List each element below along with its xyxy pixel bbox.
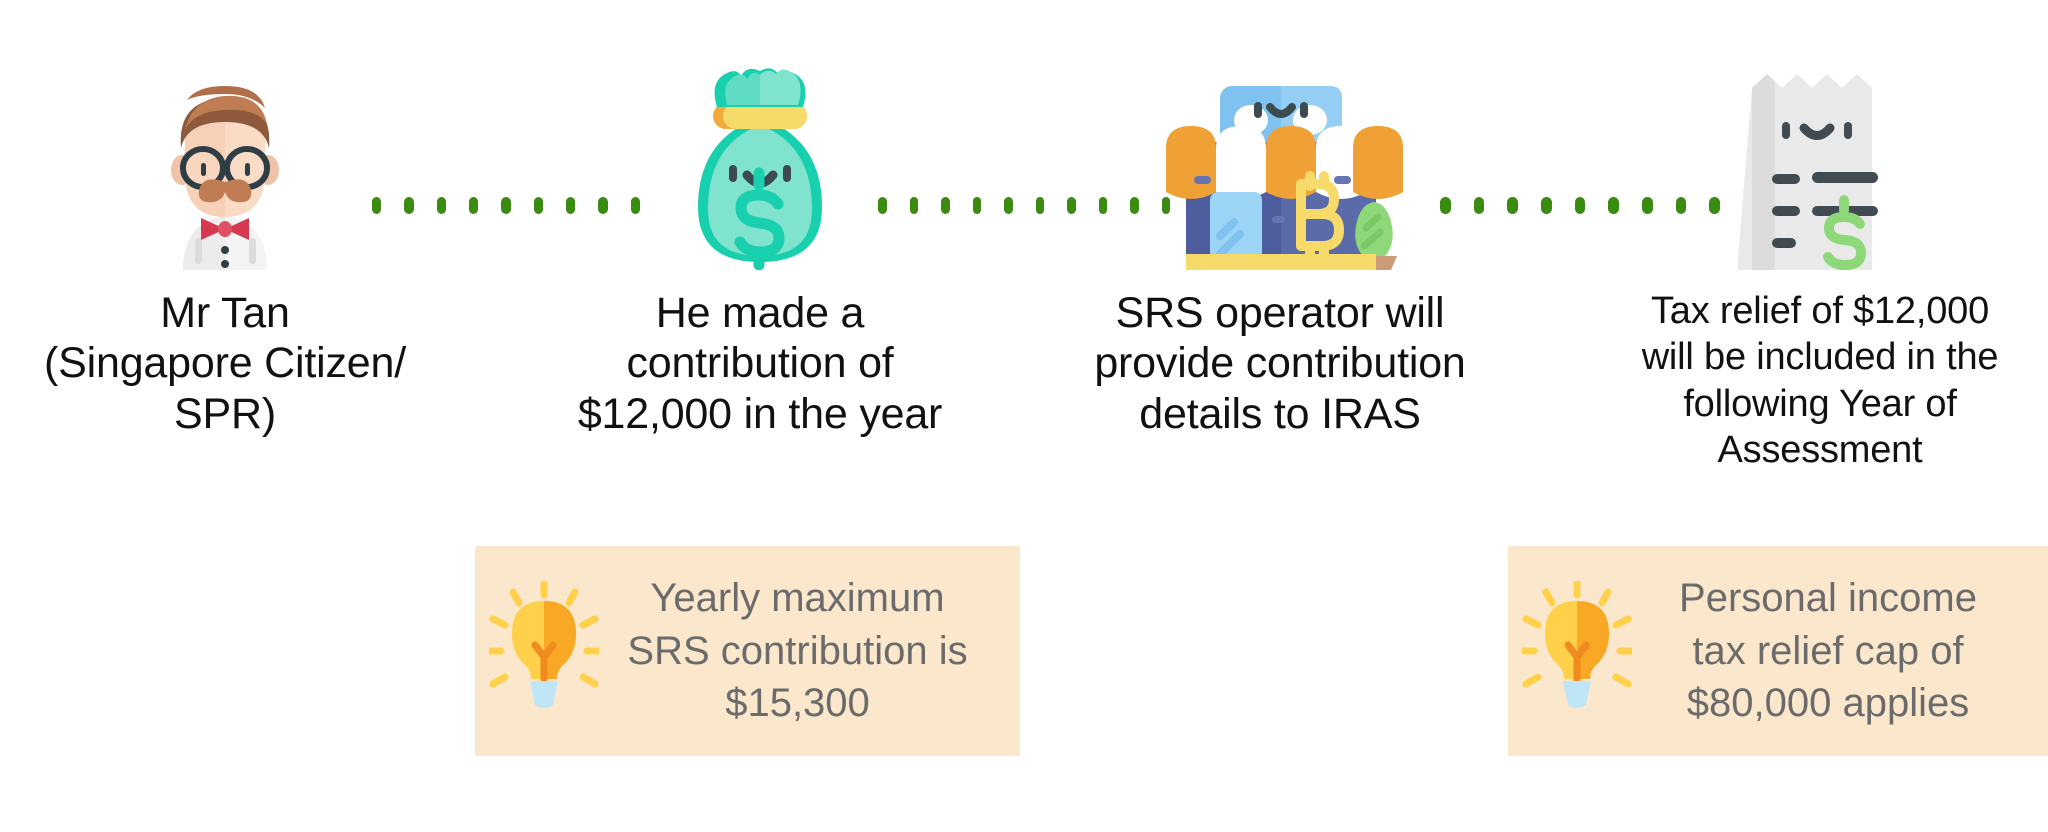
step-contribution: He made a contribution of $12,000 in the… xyxy=(545,30,975,439)
step-icon-container xyxy=(125,30,325,270)
tip-text: Yearly maximum SRS contribution is $15,3… xyxy=(599,572,996,730)
step-caption: He made a contribution of $12,000 in the… xyxy=(578,288,942,439)
step-caption: SRS operator will provide contribution d… xyxy=(1094,288,1465,439)
step-srs-operator: SRS operator will provide contribution d… xyxy=(1065,30,1495,439)
step-caption: Tax relief of $12,000 will be included i… xyxy=(1642,288,1999,473)
step-mr-tan: Mr Tan (Singapore Citizen/ SPR) xyxy=(10,30,440,439)
lightbulb-icon xyxy=(489,581,599,721)
step-tax-relief: Tax relief of $12,000 will be included i… xyxy=(1605,30,2035,473)
step-caption: Mr Tan (Singapore Citizen/ SPR) xyxy=(44,288,406,439)
step-icon-container xyxy=(665,30,855,270)
infographic-canvas: Mr Tan (Singapore Citizen/ SPR) xyxy=(0,0,2048,832)
tip-box-relief-cap: Personal income tax relief cap of $80,00… xyxy=(1508,546,2048,756)
tip-text: Personal income tax relief cap of $80,00… xyxy=(1632,572,2024,730)
receipt-icon xyxy=(1738,70,1903,270)
money-bag-icon xyxy=(665,55,855,270)
step-icon-container xyxy=(1158,30,1403,270)
man-avatar-icon xyxy=(125,70,325,270)
shop-storefront-icon xyxy=(1158,80,1403,270)
lightbulb-icon xyxy=(1522,581,1632,721)
tip-box-srs-cap: Yearly maximum SRS contribution is $15,3… xyxy=(475,546,1020,756)
step-icon-container xyxy=(1738,30,1903,270)
